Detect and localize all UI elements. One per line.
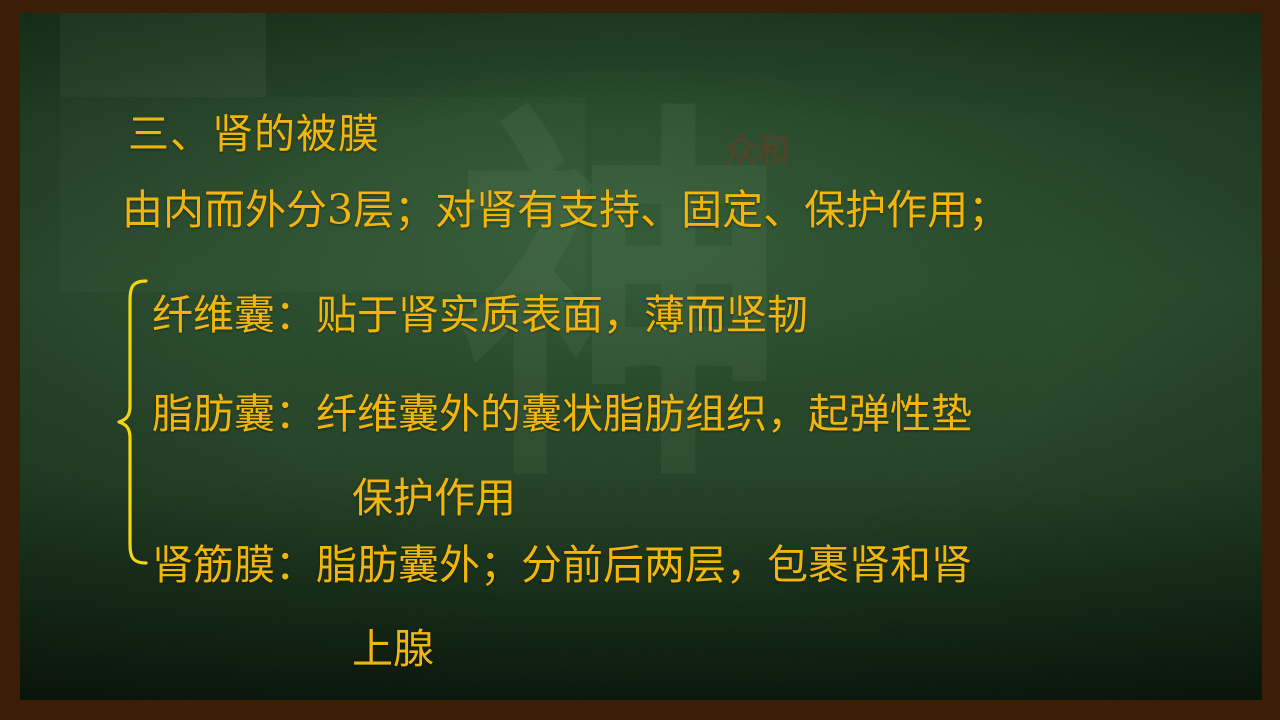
slide-frame: 神 众和 三、肾的被膜 由内而外分3层；对肾有支持、固定、保护作用； 纤维囊：贴… bbox=[0, 0, 1280, 720]
layer-2-line-1: 脂肪囊：纤维囊外的囊状脂肪组织，起弹性垫 bbox=[152, 380, 972, 440]
curly-brace-icon bbox=[116, 278, 150, 566]
slide-heading: 三、肾的被膜 bbox=[128, 100, 380, 160]
layer-1-line-1: 纤维囊：贴于肾实质表面，薄而坚韧 bbox=[152, 281, 808, 341]
slide-content: 三、肾的被膜 由内而外分3层；对肾有支持、固定、保护作用； 纤维囊：贴于肾实质表… bbox=[0, 0, 1280, 720]
layer-3-line-1: 肾筋膜：脂肪囊外；分前后两层，包裹肾和肾 bbox=[152, 531, 972, 591]
layer-3-line-2: 上腺 bbox=[352, 615, 434, 675]
slide-subheading: 由内而外分3层；对肾有支持、固定、保护作用； bbox=[122, 176, 1009, 236]
layer-2-line-2: 保护作用 bbox=[352, 464, 516, 524]
